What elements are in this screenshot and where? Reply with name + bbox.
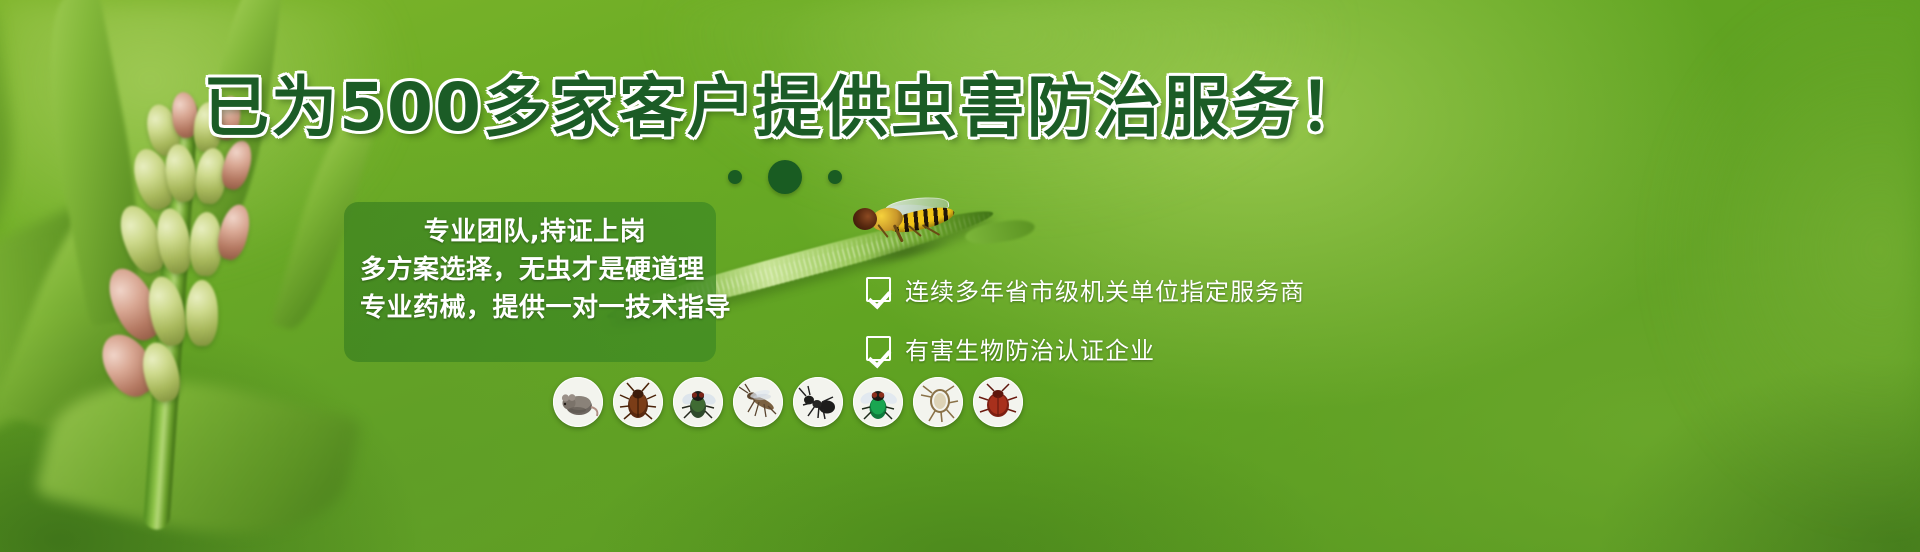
pest-circle-cockroach[interactable] [613,377,663,427]
selling-points-panel: 专业团队,持证上岗 多方案选择，无虫才是硬道理 专业药械，提供一对一技术指导 [344,202,716,362]
checklist-item-label: 连续多年省市级机关单位指定服务商 [905,272,1305,307]
ant-icon [795,379,841,425]
checklist-item: 有害生物防治认证企业 [866,331,1486,366]
headline-container: 已为500多家客户提供虫害防治服务！ [0,72,1570,143]
pest-circle-greenbottle-fly[interactable] [853,377,903,427]
pest-circle-flea[interactable] [913,377,963,427]
promotional-banner: 已为500多家客户提供虫害防治服务！ 专业团队,持证上岗 多方案选择，无虫才是硬… [0,0,1920,552]
hoverfly-image [845,196,960,248]
flea-icon [915,379,961,425]
pest-circle-ant[interactable] [793,377,843,427]
cockroach-icon [615,379,661,425]
pest-circle-bedbug[interactable] [973,377,1023,427]
checklist-item-label: 有害生物防治认证企业 [905,331,1155,366]
head-shape [853,208,877,230]
checkbox-checked-icon [866,277,891,302]
dot-small-icon [828,170,842,184]
pest-circle-housefly[interactable] [673,377,723,427]
pest-circle-mosquito[interactable] [733,377,783,427]
pest-circle-rat[interactable] [553,377,603,427]
decorative-dots [0,160,1570,194]
selling-point-line: 多方案选择，无虫才是硬道理 [360,257,700,283]
dot-small-icon [728,170,742,184]
greenbottle-fly-icon [855,379,901,425]
selling-point-line: 专业药械，提供一对一技术指导 [360,295,700,321]
housefly-icon [675,379,721,425]
checkbox-checked-icon [866,336,891,361]
rat-icon [555,379,601,425]
pest-type-row [553,377,1023,427]
mosquito-icon [735,379,781,425]
checklist-item: 连续多年省市级机关单位指定服务商 [866,272,1486,307]
credentials-checklist: 连续多年省市级机关单位指定服务商 有害生物防治认证企业 [866,272,1486,366]
bedbug-icon [975,379,1021,425]
headline-text: 已为500多家客户提供虫害防治服务！ [203,72,1367,143]
selling-point-line: 专业团队,持证上岗 [360,219,700,245]
dot-large-icon [768,160,802,194]
